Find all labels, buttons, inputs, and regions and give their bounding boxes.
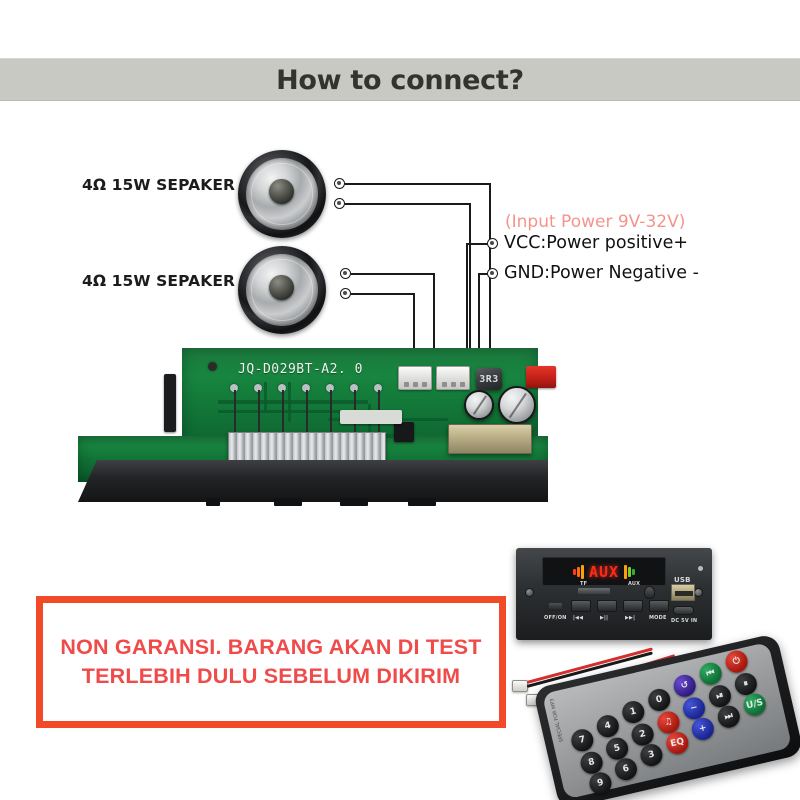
previous-button[interactable]: [571, 600, 591, 612]
integrated-circuit: [394, 422, 414, 442]
speaker-1-terminal-negative: [334, 198, 345, 209]
bezel-notch: [206, 498, 220, 506]
side-switch: [164, 374, 176, 432]
inductor-marking: 3R3: [479, 374, 499, 385]
bezel-notch: [408, 498, 436, 506]
wire-vcc-h: [466, 243, 488, 245]
electrolytic-capacitor: [464, 390, 494, 420]
wire-spk2-pos-h: [351, 273, 435, 275]
next-button[interactable]: [623, 600, 643, 612]
power-switch-label: OFF/ON: [544, 615, 567, 621]
mp3-decoder-module: AUX TF AUX USB DC 5V IN OFF/ON |◀◀ ▶|| ▶…: [516, 548, 712, 640]
vu-meter-right: [624, 565, 635, 579]
tf-slot-label: TF: [580, 581, 587, 587]
product-diagram-canvas: How to connect? 4Ω 15W SEPAKER 1 4Ω 15W …: [0, 0, 800, 800]
vcc-label: VCC:Power positive+: [504, 233, 688, 253]
tf-card-slot: [578, 588, 610, 594]
play-pause-button-label: ▶||: [600, 615, 608, 621]
speaker-1-image: [238, 150, 326, 238]
harness-connector: [512, 680, 528, 692]
mounting-hole: [208, 362, 217, 371]
mode-button[interactable]: [649, 600, 669, 612]
play-pause-button[interactable]: [597, 600, 617, 612]
speaker-1-connector: [398, 366, 432, 390]
speaker-1-terminal-positive: [334, 178, 345, 189]
dc-input-label: DC 5V IN: [671, 618, 697, 624]
mode-button-label: MODE: [649, 615, 667, 621]
header-banner: How to connect?: [0, 58, 800, 101]
faceplate-bezel: [78, 460, 548, 502]
gnd-label: GND:Power Negative -: [504, 263, 699, 283]
vu-meter-left: [573, 565, 584, 579]
wire-spk1-pos-v: [489, 183, 491, 375]
speaker-2-label: 4Ω 15W SEPAKER 2: [82, 272, 251, 290]
previous-button-label: |◀◀: [573, 615, 583, 621]
warranty-warning-text: NON GARANSI. BARANG AKAN DI TEST TERLEBI…: [43, 633, 499, 691]
speaker-2-image: [238, 246, 326, 334]
power-inductor: 3R3: [476, 368, 502, 390]
module-screw-left: [525, 588, 534, 597]
usb-port-label: USB: [674, 576, 691, 584]
speaker-1-label: 4Ω 15W SEPAKER 1: [82, 176, 251, 194]
speaker-2-terminal-negative: [340, 288, 351, 299]
vcc-terminal: [487, 238, 498, 249]
dc-input-jack: [673, 606, 694, 615]
pcb-trace: [218, 400, 368, 404]
speaker-2-terminal-positive: [340, 268, 351, 279]
power-switch[interactable]: [549, 603, 562, 611]
speaker-2-connector: [436, 366, 470, 390]
aux-jack: [644, 586, 655, 599]
amplifier-board: JQ-D029BT-A2. 0: [78, 348, 548, 534]
wire-spk1-neg-h: [345, 203, 471, 205]
electrolytic-capacitor: [498, 386, 536, 424]
page-title: How to connect?: [0, 59, 800, 102]
input-power-note: (Input Power 9V-32V): [505, 212, 685, 232]
pcb-trace: [264, 382, 267, 412]
board-usb-connector: [448, 424, 532, 454]
board-silkscreen-label: JQ-D029BT-A2. 0: [238, 362, 363, 377]
wire-spk1-pos-h: [345, 183, 491, 185]
warranty-warning-box: NON GARANSI. BARANG AKAN DI TEST TERLEBI…: [36, 596, 506, 728]
wire-spk2-neg-h: [351, 293, 415, 295]
ir-receiver-icon: [698, 566, 703, 571]
power-connector: [526, 366, 556, 388]
bezel-notch: [274, 498, 302, 506]
module-led-display: AUX: [542, 557, 666, 586]
smd-component: [340, 410, 402, 424]
bezel-notch: [340, 498, 368, 506]
module-screw-right: [694, 588, 703, 597]
next-button-label: ▶▶|: [625, 615, 635, 621]
gnd-terminal: [487, 268, 498, 279]
pcb-trace: [288, 382, 291, 422]
display-mode-text: AUX: [589, 563, 619, 581]
aux-jack-label: AUX: [628, 581, 640, 587]
usb-port: [671, 584, 695, 601]
